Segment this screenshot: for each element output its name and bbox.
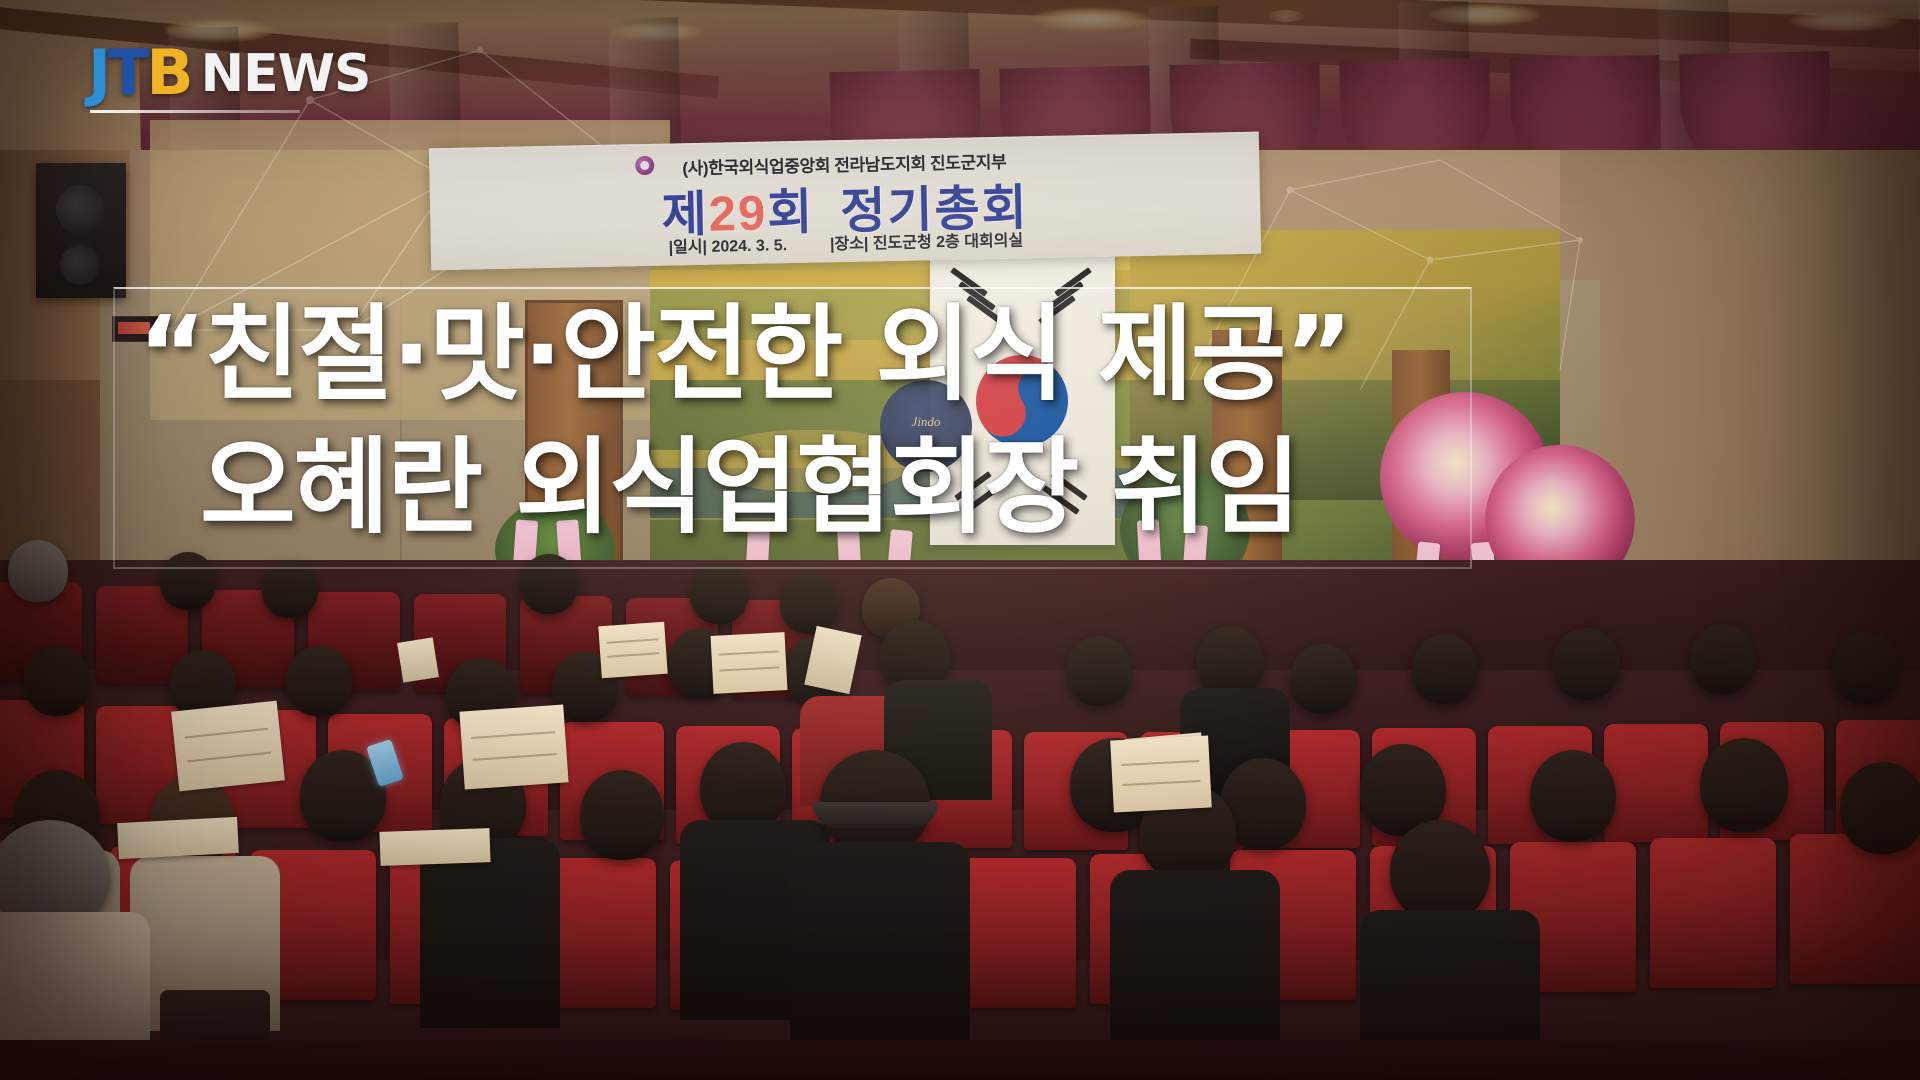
logo-underline <box>90 110 300 113</box>
name-placard <box>459 704 568 789</box>
audience-head <box>1700 738 1788 832</box>
audience-head <box>1552 628 1620 700</box>
floor-foreground <box>0 1040 1920 1080</box>
audience-head <box>580 770 664 860</box>
logo-letter-b: B <box>146 42 192 104</box>
audience-head <box>1530 750 1616 842</box>
audience-head <box>8 540 68 602</box>
name-placard <box>711 632 788 694</box>
banner-place-label: |장소| <box>830 236 869 254</box>
name-placard <box>171 701 285 792</box>
broadcaster-logo: J T B NEWS <box>88 42 371 104</box>
name-placard <box>598 622 667 678</box>
audience-head <box>286 646 352 716</box>
event-banner: (사)한국외식업중앙회 전라남도지회 진도군지부 제29회정기총회 |일시| 2… <box>429 132 1261 271</box>
audience-head <box>690 564 748 624</box>
audience-head <box>1390 820 1490 922</box>
held-document <box>397 637 439 682</box>
audience-head <box>1840 762 1920 854</box>
audience-area <box>0 520 1920 1080</box>
seat <box>1650 838 1776 988</box>
name-placard <box>379 828 490 866</box>
logo-letter-t: T <box>107 42 146 104</box>
seat <box>1790 834 1920 984</box>
name-placard <box>1110 735 1212 812</box>
banner-date-label: |일시| <box>668 239 707 257</box>
audience-head <box>1290 644 1356 714</box>
audience-head <box>1832 632 1900 704</box>
seat <box>1604 724 1708 842</box>
audience-head <box>1412 634 1478 704</box>
logo-letter-j: J <box>88 42 107 104</box>
banner-place-value: 진도군청 2층 대회의실 <box>873 232 1024 252</box>
audience-head <box>24 646 90 716</box>
logo-word-news: NEWS <box>201 44 371 104</box>
broadcast-frame: (사)한국외식업중앙회 전라남도지회 진도군지부 제29회정기총회 |일시| 2… <box>0 0 1920 1080</box>
jtb-logomark: J T B <box>88 42 193 104</box>
audience-head <box>1066 636 1132 706</box>
audience-body <box>1110 870 1280 1060</box>
speaker-driver <box>60 245 100 285</box>
audience-head <box>780 574 838 634</box>
name-placard <box>117 817 239 859</box>
headline-line-2: 오혜란 외식업협회장 취임 <box>120 421 1520 554</box>
audience-head <box>1690 624 1756 694</box>
headline-overlay: “친절·맛·안전한 외식 제공” 오혜란 외식업협회장 취임 <box>120 288 1520 554</box>
audience-body <box>790 842 970 1042</box>
speaker-driver <box>56 185 104 233</box>
banner-date-value: 2024. 3. 5. <box>711 237 787 256</box>
headline-line-1: “친절·맛·안전한 외식 제공” <box>120 288 1520 421</box>
audience-body <box>420 838 560 1028</box>
cap-brim <box>812 802 938 828</box>
